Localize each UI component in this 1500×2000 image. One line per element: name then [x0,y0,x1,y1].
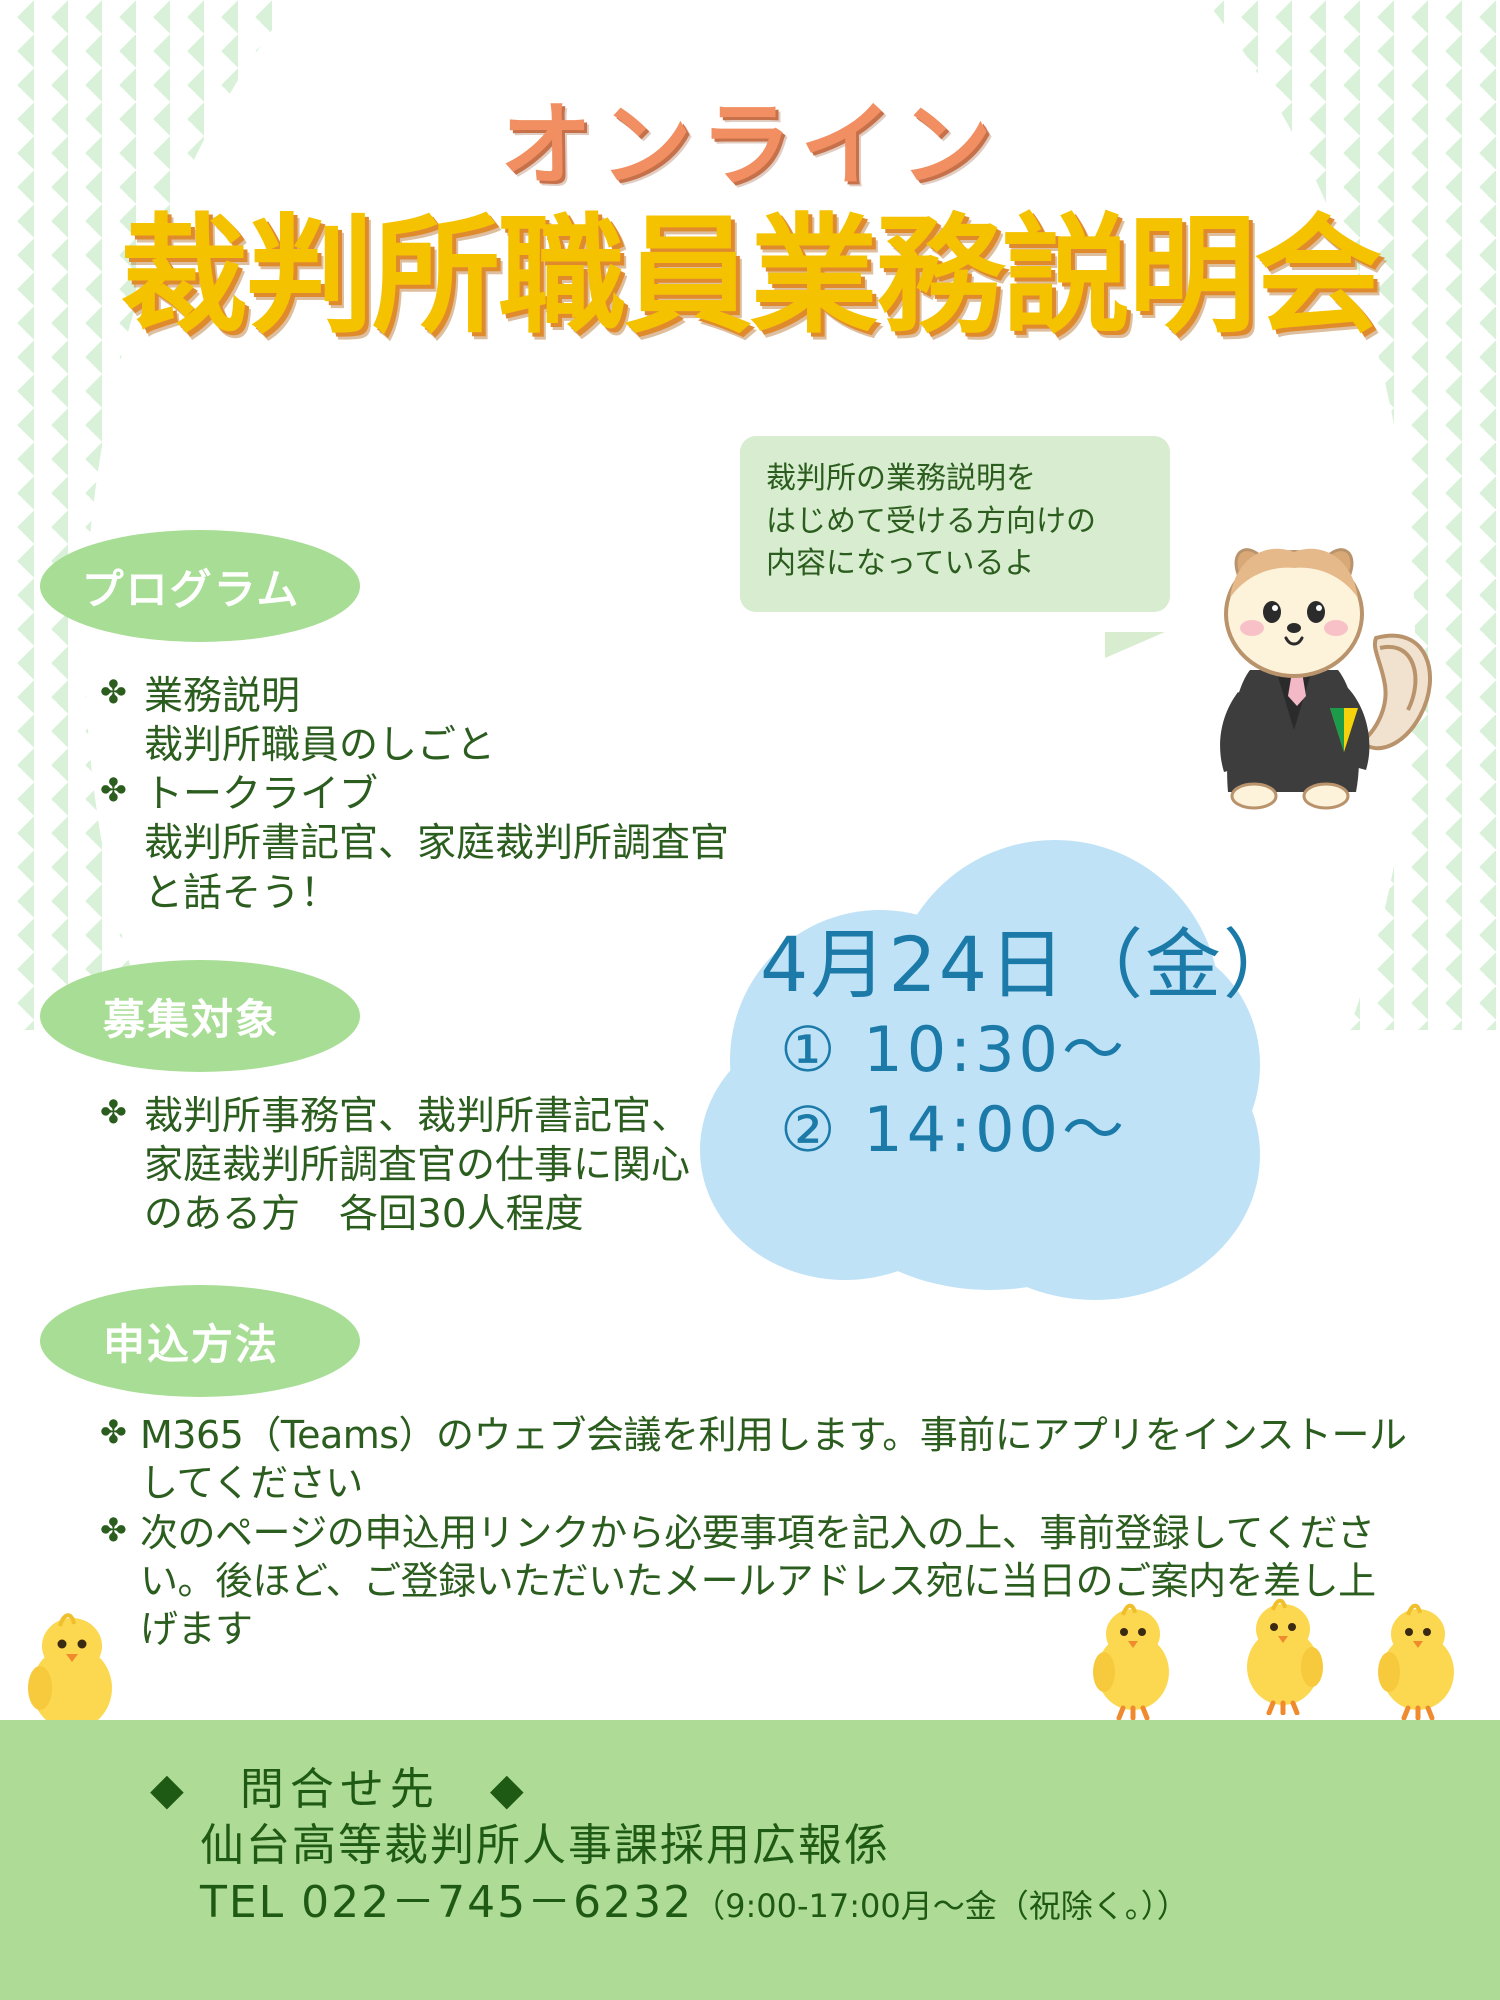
event-date: 4月24日（金） [760,920,1280,1010]
speech-bubble-tail [1105,632,1165,668]
contact-tel-hours: （9:00-17:00月〜金（祝除く。）） [693,1887,1189,1925]
list-item: ✤ トークライブ 裁判所書記官、家庭裁判所調査官 と話そう！ [100,770,729,917]
poster-title-block: オンライン 裁判所職員業務説明会 [0,0,1500,344]
target-item-line-1: 裁判所事務官、裁判所書記官、 [144,1092,690,1141]
clover-icon: ✤ [100,1510,140,1550]
section-label-apply: 申込方法 [40,1285,360,1397]
clover-icon: ✤ [100,1092,144,1132]
contact-tel: TEL 022－745－6232 [200,1877,693,1928]
target-list: ✤ 裁判所事務官、裁判所書記官、 家庭裁判所調査官の仕事に関心 のある方 各回3… [100,1092,690,1241]
target-item-line-3: のある方 各回30人程度 [144,1190,690,1239]
section-label-target-text: 募集対象 [103,986,297,1047]
contact-footer: ◆ 問合せ先 ◆ 仙台高等裁判所人事課採用広報係 TEL 022－745－623… [0,1720,1500,2000]
program-list: ✤ 業務説明 裁判所職員のしごと ✤ トークライブ 裁判所書記官、家庭裁判所調査… [100,672,729,918]
bubble-line-2: はじめて受ける方向けの [766,501,1144,544]
target-item-line-2: 家庭裁判所調査官の仕事に関心 [144,1141,690,1190]
clover-icon: ✤ [100,672,144,712]
apply-item-2-line-1: 次のページの申込用リンクから必要事項を記入の上、事前登録してくださ [140,1510,1407,1558]
section-label-target: 募集対象 [40,960,360,1072]
list-item: ✤ 業務説明 裁判所職員のしごと [100,672,729,770]
program-item-2-line-3: と話そう！ [144,869,729,918]
event-slot-2: ② 14:00〜 [760,1090,1280,1171]
contact-heading: ◆ 問合せ先 ◆ [150,1762,1500,1817]
chick-icon [1085,1600,1180,1725]
title-main: 裁判所職員業務説明会 [0,210,1500,344]
chick-icon [1235,1595,1330,1720]
apply-item-2-line-2: い。後ほど、ご登録いただいたメールアドレス宛に当日のご案内を差し上 [140,1558,1407,1606]
apply-list: ✤ M365（Teams）のウェブ会議を利用します。事前にアプリをインストール … [100,1412,1407,1655]
apply-item-1-line-1: M365（Teams）のウェブ会議を利用します。事前にアプリをインストール [140,1412,1407,1460]
event-slot-1: ① 10:30〜 [760,1010,1280,1091]
clover-icon: ✤ [100,770,144,810]
program-item-1-line-2: 裁判所職員のしごと [144,721,729,770]
section-label-program: プログラム [40,530,360,642]
section-label-program-text: プログラム [82,556,319,617]
apply-item-2-line-3: げます [140,1606,1407,1654]
program-item-2-line-1: トークライブ [144,770,729,819]
bubble-line-3: 内容になっているよ [766,543,1144,586]
mascot-squirrel-judge-icon [1180,520,1440,830]
chick-icon [1370,1600,1465,1725]
contact-office: 仙台高等裁判所人事課採用広報係 [150,1817,1500,1874]
bubble-line-1: 裁判所の業務説明を [766,458,1144,501]
program-item-1-line-1: 業務説明 [144,672,729,721]
list-item: ✤ 次のページの申込用リンクから必要事項を記入の上、事前登録してくださ い。後ほ… [100,1510,1407,1654]
list-item: ✤ M365（Teams）のウェブ会議を利用します。事前にアプリをインストール … [100,1412,1407,1508]
program-item-2-line-2: 裁判所書記官、家庭裁判所調査官 [144,819,729,868]
contact-tel-row: TEL 022－745－6232（9:00-17:00月〜金（祝除く。）） [150,1874,1500,1931]
mascot-speech-bubble: 裁判所の業務説明を はじめて受ける方向けの 内容になっているよ [740,436,1170,612]
schedule-block: 4月24日（金） ① 10:30〜 ② 14:00〜 [760,920,1280,1171]
apply-item-1-line-2: してください [140,1460,1407,1508]
title-subtitle: オンライン [0,100,1500,192]
section-label-apply-text: 申込方法 [103,1311,297,1372]
poster-canvas: オンライン 裁判所職員業務説明会 4月24日（金） ① 10:30〜 ② 14:… [0,0,1500,2000]
list-item: ✤ 裁判所事務官、裁判所書記官、 家庭裁判所調査官の仕事に関心 のある方 各回3… [100,1092,690,1239]
clover-icon: ✤ [100,1412,140,1452]
